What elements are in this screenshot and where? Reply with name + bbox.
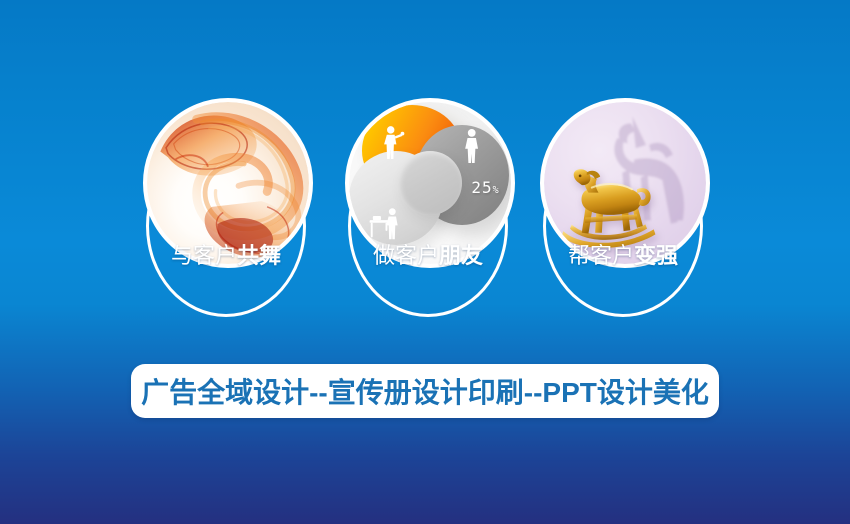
caption-1-emph: 共舞 [237, 243, 281, 268]
caption-1-lead: 与客户 [171, 243, 237, 268]
caption-3-emph: 变强 [634, 243, 678, 268]
pie-infographic-image: 25% [349, 102, 511, 264]
bottom-banner-text: 广告全域设计--宣传册设计印刷--PPT设计美化 [141, 371, 709, 411]
abstract-smoke-image [147, 102, 309, 264]
pie-backdrop: 25% [349, 102, 511, 264]
person-standing-icon [462, 128, 481, 164]
percent-value: 25 [471, 178, 492, 197]
person-at-desk-icon [368, 206, 405, 242]
smoke-swirl-icon [147, 102, 309, 264]
percent-label: 25% [471, 178, 499, 197]
caption-2: 做客户朋友 [348, 245, 508, 267]
horse-backdrop [544, 102, 706, 264]
promo-banner-stage: 与客户共舞 [0, 0, 850, 524]
caption-2-emph: 朋友 [439, 243, 483, 268]
circle-card-dance-with-client[interactable]: 与客户共舞 [128, 90, 328, 340]
circle-card-befriend-client[interactable]: 25% 做客户朋友 [330, 90, 530, 340]
rocking-horse-image [544, 102, 706, 264]
circle-card-strengthen-client[interactable]: 帮客户变强 [525, 90, 725, 340]
smoke-gradient-backdrop [147, 102, 309, 264]
caption-3-lead: 帮客户 [568, 243, 634, 268]
caption-3: 帮客户变强 [543, 245, 703, 267]
caption-2-lead: 做客户 [373, 243, 439, 268]
bottom-banner[interactable]: 广告全域设计--宣传册设计印刷--PPT设计美化 [131, 364, 719, 418]
circle-card-group: 与客户共舞 [0, 0, 850, 340]
caption-1: 与客户共舞 [146, 245, 306, 267]
percent-unit: % [493, 185, 500, 196]
person-presenter-icon [381, 125, 405, 161]
